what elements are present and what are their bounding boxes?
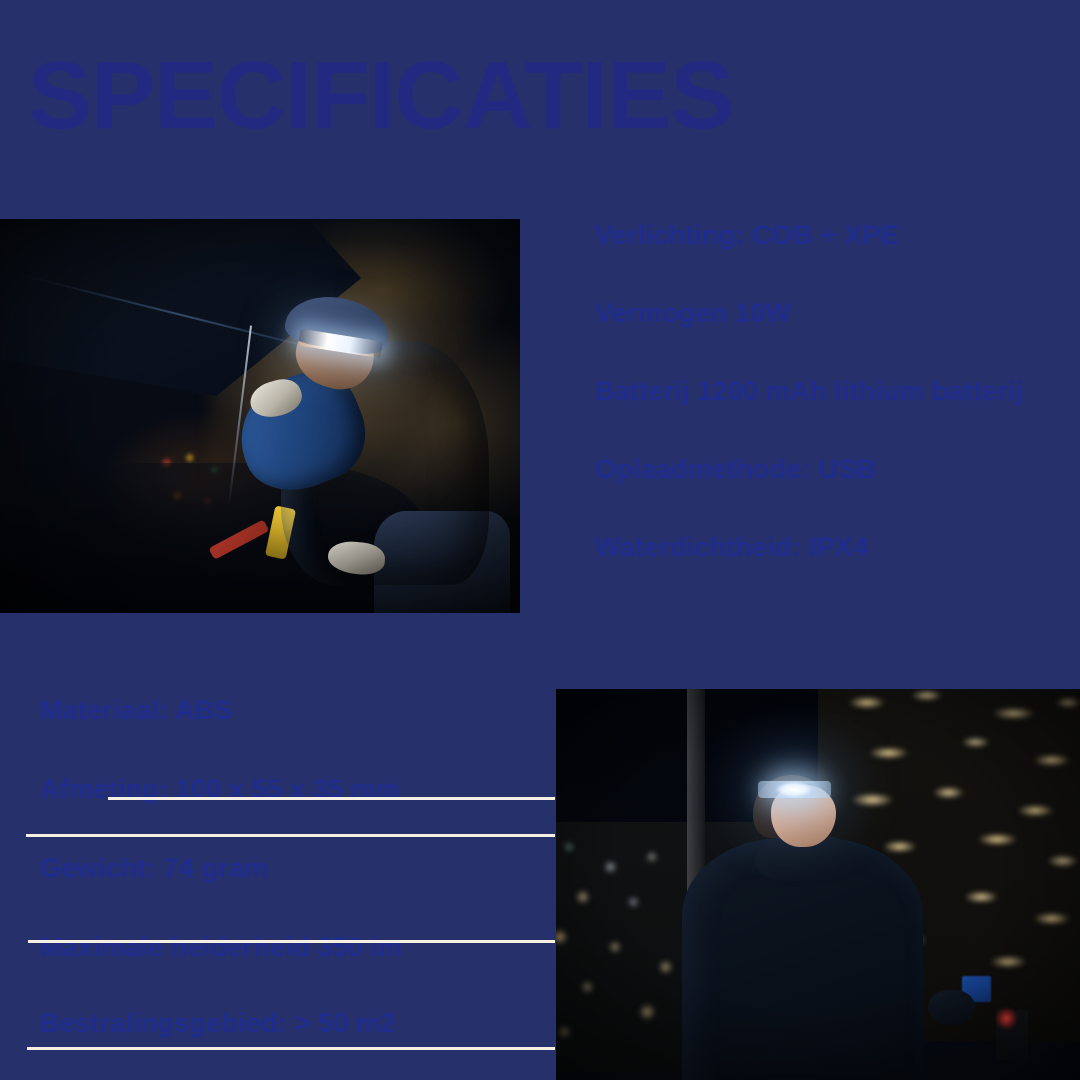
spec-item-oplaadmethode: Oplaadmethode: USB [595,454,876,485]
photo-runner-headlamp [556,689,1080,1080]
spec-item-waterdichtheid: Waterdichtheid: IPX4 [595,532,868,563]
spec-item-materiaal: Materiaal: ABS [40,695,232,726]
spec-item-vermogen: Vermogen 10W [595,298,791,329]
divider-2 [26,834,555,837]
spec-item-bestralingsgebied: Bestralingsgebied: > 50 m2 [40,1008,396,1039]
spec-item-gewicht: Gewicht: 74 gram [40,853,268,884]
garage-vignette [0,219,520,613]
divider-1 [108,797,555,800]
spec-item-batterij: Batterij 1200 mAh lithium batterij [595,376,1023,407]
photo-mechanic-headlamp [0,219,520,613]
page-title: SPECIFICATIES [28,48,733,144]
divider-4 [27,1047,555,1050]
poster-canvas: SPECIFICATIES Verlichting: COB + XPE Ver… [0,0,1080,1080]
spec-item-verlichting: Verlichting: COB + XPE [595,220,899,251]
divider-3 [28,940,555,943]
runner-vignette [556,689,1080,1080]
spec-item-afmeting: Afmeting: 100 x 55 x 35 mm [40,774,399,805]
spec-item-helderheid: Maximale helderheid 350 lm [40,932,402,963]
